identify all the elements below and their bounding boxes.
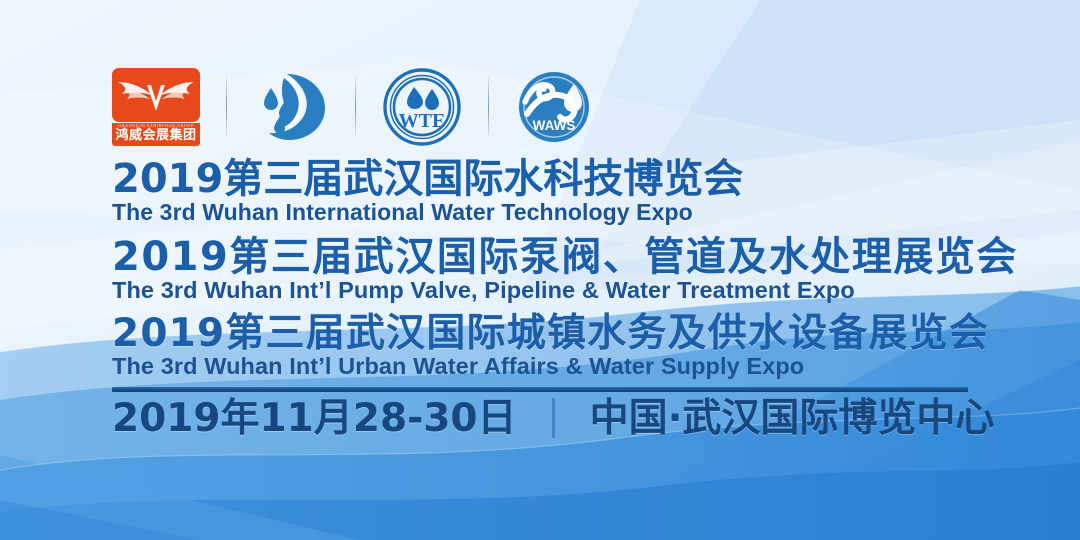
logo-grandeur-exhibition-group: GRANDEUR EXHIBITION GROUP 鸿威会展集团 xyxy=(112,68,200,146)
waws-label: WAWS xyxy=(533,118,576,133)
grandeur-chinese-name: 鸿威会展集团 xyxy=(112,129,200,144)
event-venue: 中国·武汉国际博览中心 xyxy=(590,399,995,438)
wing-w-icon xyxy=(116,73,196,117)
title-3-english: The 3rd Wuhan Int’l Urban Water Affairs … xyxy=(112,354,992,380)
title-1-english: The 3rd Wuhan International Water Techno… xyxy=(112,200,992,225)
wte-icon: WTE xyxy=(382,67,462,147)
logo-divider xyxy=(226,77,227,137)
event-date: 2019年11月28-30日 xyxy=(112,399,517,438)
event-banner: GRANDEUR EXHIBITION GROUP 鸿威会展集团 xyxy=(0,0,1080,540)
title-underline-rule xyxy=(112,387,968,392)
event-footer: 2019年11月28-30日 中国·武汉国际博览中心 xyxy=(112,398,994,438)
logo-wte: WTE xyxy=(382,67,462,147)
waws-icon: WAWS xyxy=(515,68,593,146)
logo-divider xyxy=(488,77,489,137)
title-row-pump-valve-expo: 2019第三届武汉国际泵阀、管道及水处理展览会 The 3rd Wuhan In… xyxy=(112,236,992,304)
title-2-chinese: 2019第三届武汉国际泵阀、管道及水处理展览会 xyxy=(112,236,992,278)
wte-label: WTE xyxy=(399,110,446,132)
title-3-chinese: 2019第三届武汉国际城镇水务及供水设备展览会 xyxy=(112,313,992,354)
title-row-urban-water-affairs-expo: 2019第三届武汉国际城镇水务及供水设备展览会 The 3rd Wuhan In… xyxy=(112,313,992,380)
title-block: 2019第三届武汉国际水科技博览会 The 3rd Wuhan Internat… xyxy=(112,158,992,392)
title-2-english: The 3rd Wuhan Int’l Pump Valve, Pipeline… xyxy=(112,278,992,304)
logo-water-drop xyxy=(253,70,329,144)
grandeur-wing-mark xyxy=(112,68,200,122)
title-1-chinese: 2019第三届武汉国际水科技博览会 xyxy=(112,158,992,200)
footer-separator xyxy=(552,398,555,438)
grandeur-wordmark: GRANDEUR EXHIBITION GROUP 鸿威会展集团 xyxy=(112,123,200,145)
title-row-water-technology-expo: 2019第三届武汉国际水科技博览会 The 3rd Wuhan Internat… xyxy=(112,158,992,226)
logo-waws: WAWS xyxy=(515,68,593,146)
logo-strip: GRANDEUR EXHIBITION GROUP 鸿威会展集团 xyxy=(112,62,593,152)
logo-divider xyxy=(355,77,356,137)
water-drop-icon xyxy=(253,70,329,144)
